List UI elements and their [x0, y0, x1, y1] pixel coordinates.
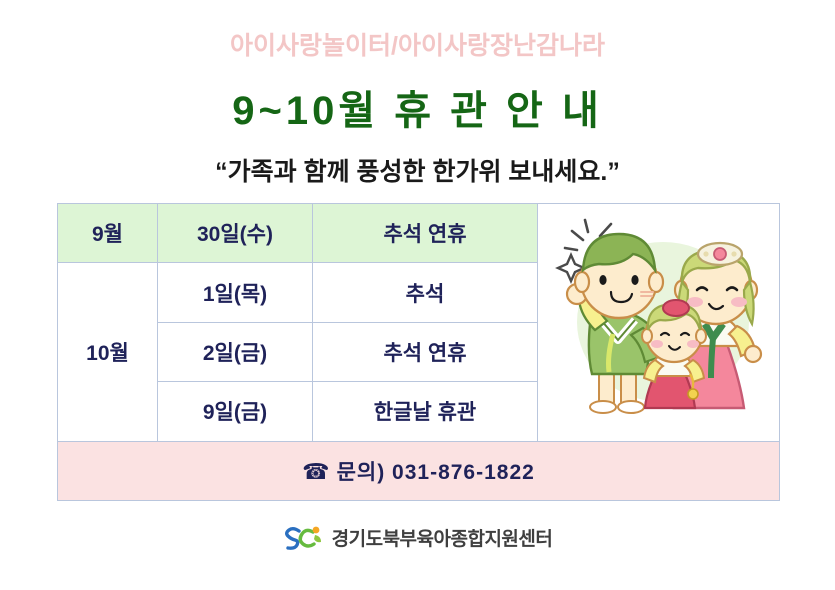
- contact-text: 문의) 031-876-1822: [337, 461, 535, 484]
- cell-day: 30일(수): [158, 204, 313, 263]
- schedule-table-container: 9월 30일(수) 추석 연휴: [57, 203, 779, 501]
- contact-cell: ☎문의) 031-876-1822: [58, 441, 780, 500]
- table-row: 9월 30일(수) 추석 연휴: [58, 204, 780, 263]
- sc-logo-icon: [283, 525, 325, 551]
- cell-month: 10월: [58, 263, 158, 441]
- telephone-icon: ☎: [302, 459, 330, 484]
- cell-day: 1일(목): [158, 263, 313, 322]
- cell-month: 9월: [58, 204, 158, 263]
- cell-note: 추석 연휴: [313, 204, 538, 263]
- schedule-table: 9월 30일(수) 추석 연휴: [57, 203, 780, 501]
- subtitle-greeting: “가족과 함께 풍성한 한가위 보내세요.”: [0, 152, 835, 188]
- cell-day: 9일(금): [158, 382, 313, 441]
- cell-day: 2일(금): [158, 322, 313, 381]
- page-title: 9~10월 휴 관 안 내: [0, 78, 835, 136]
- logo-text: 경기도북부육아종합지원센터: [332, 524, 553, 551]
- family-illustration-cell: [538, 204, 780, 442]
- footer-logo: 경기도북부육아종합지원센터: [0, 524, 835, 551]
- family-illustration: [543, 204, 775, 440]
- cell-note: 한글날 휴관: [313, 382, 538, 441]
- contact-row: ☎문의) 031-876-1822: [58, 441, 780, 500]
- poster-canvas: 아이사랑놀이터/아이사랑장난감나라 9~10월 휴 관 안 내 “가족과 함께 …: [0, 0, 835, 590]
- brand-line: 아이사랑놀이터/아이사랑장난감나라: [0, 26, 835, 62]
- cell-note: 추석 연휴: [313, 322, 538, 381]
- cell-note: 추석: [313, 263, 538, 322]
